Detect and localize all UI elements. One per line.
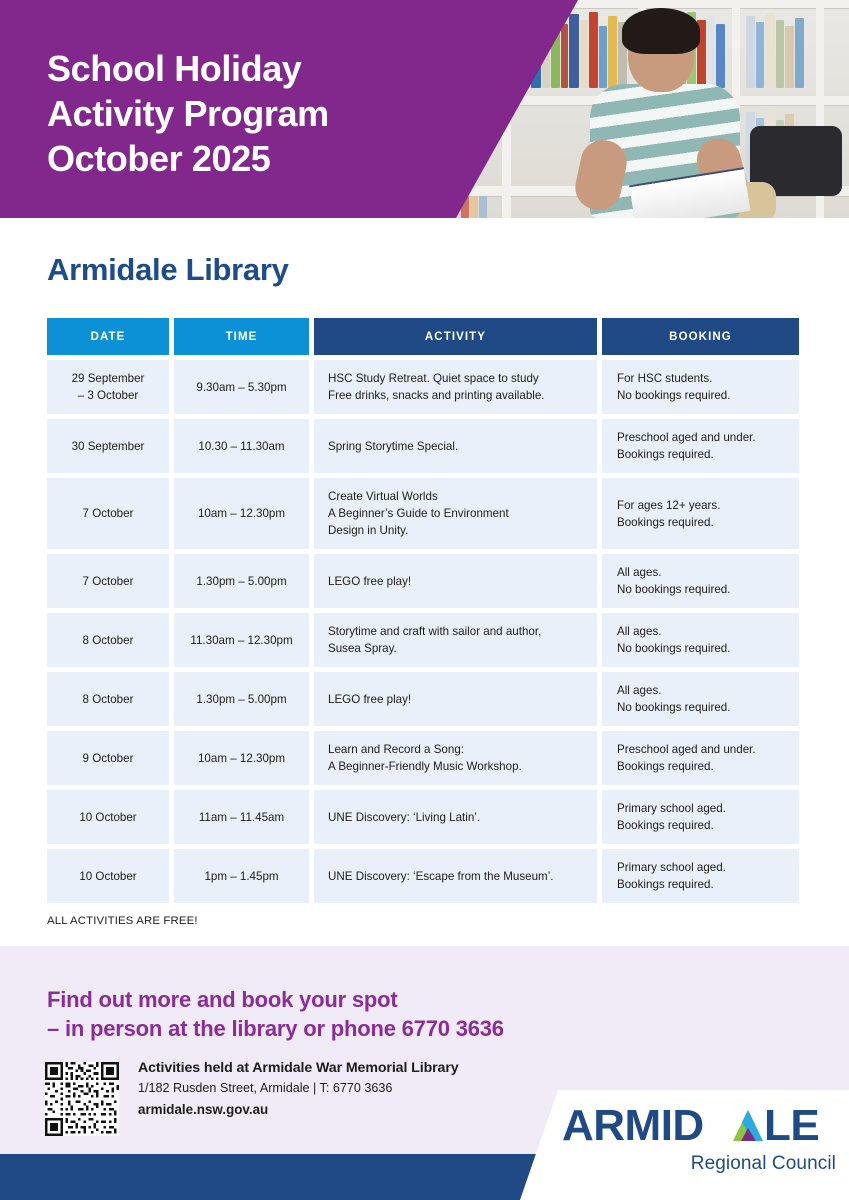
venue-name: Activities held at Armidale War Memorial… [138, 1060, 459, 1076]
cell-text: 8 October [83, 632, 134, 649]
cell-text: LEGO free play! [328, 691, 411, 708]
contact-block: Activities held at Armidale War Memorial… [138, 1060, 459, 1117]
cell-time: 11.30am – 12.30pm [174, 613, 309, 667]
cell-booking: For HSC students. No bookings required. [602, 360, 799, 414]
cell-text: 7 October [83, 573, 134, 590]
cell-text: Storytime and craft with sailor and auth… [328, 623, 541, 657]
table-row: 9 October 10am – 12.30pm Learn and Recor… [47, 731, 799, 785]
cell-text: Create Virtual Worlds A Beginner’s Guide… [328, 488, 509, 539]
cell-text: Spring Storytime Special. [328, 438, 458, 455]
cell-activity: Learn and Record a Song: A Beginner-Frie… [314, 731, 597, 785]
svg-text:ARMID: ARMID [562, 1101, 704, 1150]
cell-time: 10am – 12.30pm [174, 478, 309, 549]
council-logo: ARMID LE Regional Council [562, 1100, 842, 1175]
book-spine [795, 18, 804, 88]
cell-time: 11am – 11.45am [174, 790, 309, 844]
cell-activity: Create Virtual Worlds A Beginner’s Guide… [314, 478, 597, 549]
cell-date: 10 October [47, 849, 169, 903]
book-spine [716, 24, 725, 88]
book-spine [765, 14, 775, 88]
cell-text: 10am – 12.30pm [198, 505, 285, 522]
cell-time: 9.30am – 5.30pm [174, 360, 309, 414]
cell-date: 9 October [47, 731, 169, 785]
cell-text: All ages. No bookings required. [617, 623, 730, 657]
page-title: School Holiday Activity Program October … [47, 46, 329, 181]
book-spine [589, 12, 598, 88]
cell-activity: HSC Study Retreat. Quiet space to study … [314, 360, 597, 414]
book-spine [756, 22, 764, 88]
table-row: 8 October 1.30pm – 5.00pm LEGO free play… [47, 672, 799, 726]
cell-text: 1pm – 1.45pm [204, 868, 278, 885]
table-row: 30 September 10.30 – 11.30am Spring Stor… [47, 419, 799, 473]
cell-booking: All ages. No bookings required. [602, 613, 799, 667]
column-header-booking: BOOKING [602, 318, 799, 355]
cell-date: 30 September [47, 419, 169, 473]
cell-activity: UNE Discovery: ‘Escape from the Museum’. [314, 849, 597, 903]
activity-table: DATE TIME ACTIVITY BOOKING 29 September … [47, 318, 799, 908]
book-spine [776, 20, 784, 88]
column-header-activity: ACTIVITY [314, 318, 597, 355]
cell-text: 9.30am – 5.30pm [196, 379, 286, 396]
cell-date: 7 October [47, 554, 169, 608]
cell-text: Preschool aged and under. Bookings requi… [617, 741, 756, 775]
cell-text: Learn and Record a Song: A Beginner-Frie… [328, 741, 522, 775]
book-spine [470, 196, 478, 218]
cta-heading: Find out more and book your spot – in pe… [47, 985, 504, 1043]
cell-booking: All ages. No bookings required. [602, 672, 799, 726]
cell-date: 8 October [47, 613, 169, 667]
cell-text: 9 October [83, 750, 134, 767]
column-header-date: DATE [47, 318, 169, 355]
all-activities-free-note: ALL ACTIVITIES ARE FREE! [47, 915, 198, 927]
book-spine [746, 16, 755, 88]
cell-text: 7 October [83, 505, 134, 522]
cell-text: LEGO free play! [328, 573, 411, 590]
cell-date: 8 October [47, 672, 169, 726]
website-link[interactable]: armidale.nsw.gov.au [138, 1102, 459, 1117]
book-spine [785, 26, 794, 88]
cell-text: 10.30 – 11.30am [198, 438, 284, 455]
cell-activity: LEGO free play! [314, 672, 597, 726]
cell-text: 1.30pm – 5.00pm [196, 691, 286, 708]
cell-text: Primary school aged. Bookings required. [617, 859, 726, 893]
book-spine [707, 16, 715, 88]
cell-date: 10 October [47, 790, 169, 844]
book-spine [561, 24, 568, 88]
cell-date: 7 October [47, 478, 169, 549]
book-spine [599, 26, 607, 88]
cell-booking: For ages 12+ years. Bookings required. [602, 478, 799, 549]
table-row: 7 October 10am – 12.30pm Create Virtual … [47, 478, 799, 549]
cell-text: All ages. No bookings required. [617, 564, 730, 598]
cell-activity: Spring Storytime Special. [314, 419, 597, 473]
cell-time: 1pm – 1.45pm [174, 849, 309, 903]
cell-text: 8 October [83, 691, 134, 708]
cell-text: UNE Discovery: ‘Escape from the Museum’. [328, 868, 554, 885]
cell-text: 11.30am – 12.30pm [190, 632, 292, 649]
cell-text: All ages. No bookings required. [617, 682, 730, 716]
table-row: 8 October 11.30am – 12.30pm Storytime an… [47, 613, 799, 667]
table-row: 10 October 11am – 11.45am UNE Discovery:… [47, 790, 799, 844]
cell-time: 1.30pm – 5.00pm [174, 672, 309, 726]
table-row: 29 September – 3 October 9.30am – 5.30pm… [47, 360, 799, 414]
cell-text: 10am – 12.30pm [198, 750, 285, 767]
book-spine [479, 196, 487, 218]
table-row: 7 October 1.30pm – 5.00pm LEGO free play… [47, 554, 799, 608]
cell-activity: Storytime and craft with sailor and auth… [314, 613, 597, 667]
cell-text: Preschool aged and under. Bookings requi… [617, 429, 756, 463]
header-band: School Holiday Activity Program October … [0, 0, 849, 218]
logo-tagline: Regional Council [562, 1153, 842, 1175]
cell-time: 10.30 – 11.30am [174, 419, 309, 473]
cell-booking: Primary school aged. Bookings required. [602, 849, 799, 903]
cell-text: For HSC students. No bookings required. [617, 370, 730, 404]
cell-text: UNE Discovery: ‘Living Latin’. [328, 809, 480, 826]
cell-booking: Preschool aged and under. Bookings requi… [602, 419, 799, 473]
poster: School Holiday Activity Program October … [0, 0, 849, 1200]
venue-address: 1/182 Rusden Street, Armidale | T: 6770 … [138, 1081, 459, 1095]
cell-activity: UNE Discovery: ‘Living Latin’. [314, 790, 597, 844]
cell-time: 10am – 12.30pm [174, 731, 309, 785]
cell-text: 10 October [79, 809, 136, 826]
cell-text: 11am – 11.45am [199, 809, 284, 826]
cell-booking: Preschool aged and under. Bookings requi… [602, 731, 799, 785]
qr-code[interactable] [45, 1062, 119, 1136]
cell-time: 1.30pm – 5.00pm [174, 554, 309, 608]
cell-booking: All ages. No bookings required. [602, 554, 799, 608]
boy-hair [622, 8, 700, 54]
cell-text: 10 October [79, 868, 136, 885]
book-spine [569, 14, 579, 88]
cell-booking: Primary school aged. Bookings required. [602, 790, 799, 844]
cell-date: 29 September – 3 October [47, 360, 169, 414]
cell-text: 30 September [72, 438, 145, 455]
svg-text:LE: LE [764, 1101, 819, 1150]
table-header-row: DATE TIME ACTIVITY BOOKING [47, 318, 799, 355]
cell-text: HSC Study Retreat. Quiet space to study … [328, 370, 545, 404]
column-header-time: TIME [174, 318, 309, 355]
book-spine [608, 16, 617, 88]
table-row: 10 October 1pm – 1.45pm UNE Discovery: ‘… [47, 849, 799, 903]
cell-activity: LEGO free play! [314, 554, 597, 608]
cell-text: Primary school aged. Bookings required. [617, 800, 726, 834]
cell-text: For ages 12+ years. Bookings required. [617, 497, 720, 531]
book-spine [580, 20, 588, 88]
cell-text: 29 September – 3 October [72, 370, 145, 404]
library-heading: Armidale Library [47, 252, 289, 288]
cell-text: 1.30pm – 5.00pm [196, 573, 286, 590]
